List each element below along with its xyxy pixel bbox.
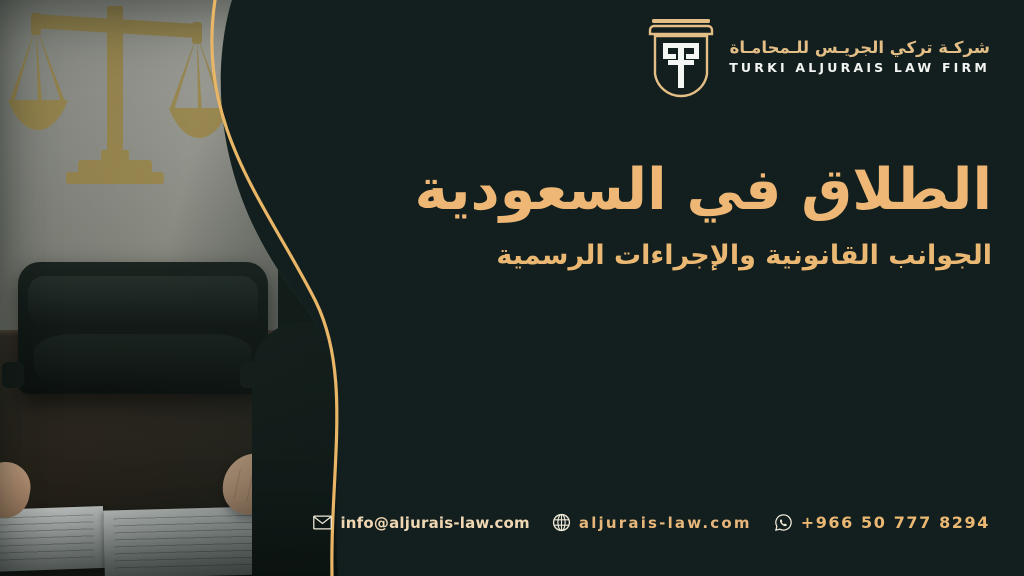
contact-website-text: aljurais-law.com bbox=[579, 514, 752, 532]
brand-name-arabic: شركـة تركي الجريـس للـمحامـاة bbox=[730, 40, 990, 57]
photo-vignette bbox=[0, 0, 420, 576]
contact-bar: info@aljurais-law.com aljurais-law.com +… bbox=[313, 513, 990, 532]
contact-phone[interactable]: +966 50 777 8294 bbox=[774, 513, 990, 532]
brand-logo[interactable]: شركـة تركي الجريـس للـمحامـاة TURKI ALJU… bbox=[646, 16, 990, 98]
page-subtitle: الجوانب القانونية والإجراءات الرسمية bbox=[392, 240, 992, 272]
hero-photo bbox=[0, 0, 420, 576]
globe-icon bbox=[552, 513, 571, 532]
promotional-banner: شركـة تركي الجريـس للـمحامـاة TURKI ALJU… bbox=[0, 0, 1024, 576]
contact-email-text: info@aljurais-law.com bbox=[340, 514, 529, 532]
brand-name-english: TURKI ALJURAIS LAW FIRM bbox=[729, 62, 990, 75]
page-title: الطلاق في السعودية bbox=[392, 160, 992, 222]
contact-website[interactable]: aljurais-law.com bbox=[552, 513, 752, 532]
envelope-icon bbox=[313, 513, 332, 532]
hero-text-block: الطلاق في السعودية الجوانب القانونية وال… bbox=[392, 160, 992, 272]
contact-phone-text: +966 50 777 8294 bbox=[801, 513, 990, 532]
whatsapp-icon bbox=[774, 513, 793, 532]
law-firm-shield-column-icon bbox=[646, 16, 716, 98]
contact-email[interactable]: info@aljurais-law.com bbox=[313, 513, 529, 532]
